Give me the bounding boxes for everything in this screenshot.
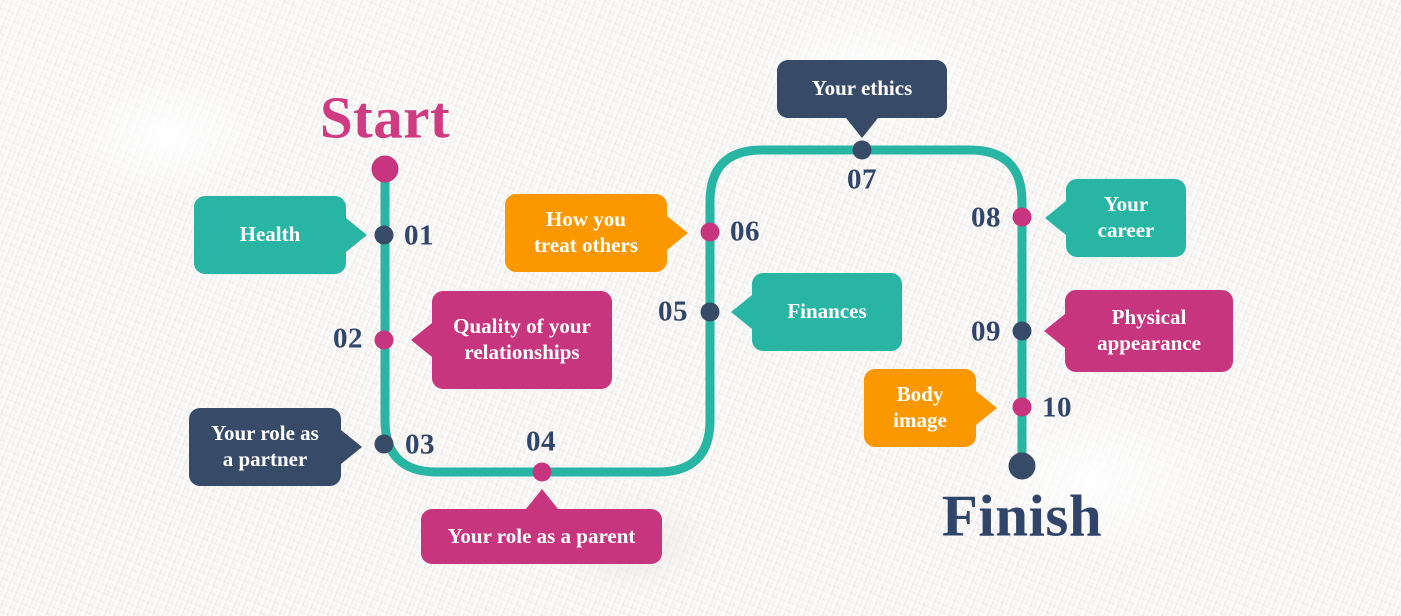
node-04[interactable] <box>533 463 552 482</box>
callout-physical-line1: Physical <box>1112 305 1187 331</box>
node-09[interactable] <box>1013 322 1032 341</box>
callout-career-line2: career <box>1098 218 1155 244</box>
node-02[interactable] <box>375 331 394 350</box>
callout-career[interactable]: Your career <box>1066 179 1186 257</box>
callout-career-line1: Your <box>1104 192 1148 218</box>
callout-parent-label: Your role as a parent <box>448 524 636 550</box>
node-03[interactable] <box>375 435 394 454</box>
node-01[interactable] <box>375 226 394 245</box>
node-05[interactable] <box>701 303 720 322</box>
step-number-08: 08 <box>971 202 1001 235</box>
infographic-canvas: Start 01 Health 02 Quality of your relat… <box>0 0 1401 616</box>
callout-finances-label: Finances <box>787 299 866 325</box>
callout-body-image-line2: image <box>893 408 947 434</box>
step-number-06: 06 <box>730 216 760 249</box>
callout-partner-line2: a partner <box>223 447 308 473</box>
start-node[interactable] <box>372 156 399 183</box>
step-number-05: 05 <box>658 296 688 329</box>
callout-partner[interactable]: Your role as a partner <box>189 408 341 486</box>
callout-parent[interactable]: Your role as a parent <box>421 509 662 564</box>
step-number-10: 10 <box>1042 392 1072 425</box>
step-number-02: 02 <box>333 323 363 356</box>
finish-label: Finish <box>942 482 1102 551</box>
callout-treat-others-line1: How you <box>546 207 626 233</box>
callout-health[interactable]: Health <box>194 196 346 274</box>
callout-relationships-line1: Quality of your <box>453 314 591 340</box>
step-number-03: 03 <box>405 429 435 462</box>
finish-node[interactable] <box>1009 453 1036 480</box>
node-06[interactable] <box>701 223 720 242</box>
callout-relationships-line2: relationships <box>464 340 579 366</box>
callout-health-label: Health <box>240 222 301 248</box>
callout-finances[interactable]: Finances <box>752 273 902 351</box>
node-07[interactable] <box>853 141 872 160</box>
step-number-09: 09 <box>971 316 1001 349</box>
callout-partner-line1: Your role as <box>211 421 319 447</box>
callout-treat-others[interactable]: How you treat others <box>505 194 667 272</box>
callout-body-image-line1: Body <box>897 382 944 408</box>
callout-relationships[interactable]: Quality of your relationships <box>432 291 612 389</box>
node-10[interactable] <box>1013 398 1032 417</box>
callout-ethics-label: Your ethics <box>812 76 913 102</box>
step-number-07: 07 <box>847 164 877 197</box>
node-08[interactable] <box>1013 208 1032 227</box>
callout-physical-appearance[interactable]: Physical appearance <box>1065 290 1233 372</box>
callout-ethics[interactable]: Your ethics <box>777 60 947 118</box>
step-number-01: 01 <box>404 220 434 253</box>
callout-body-image[interactable]: Body image <box>864 369 976 447</box>
start-label: Start <box>320 84 450 153</box>
callout-physical-line2: appearance <box>1097 331 1201 357</box>
callout-treat-others-line2: treat others <box>534 233 638 259</box>
step-number-04: 04 <box>526 426 556 459</box>
